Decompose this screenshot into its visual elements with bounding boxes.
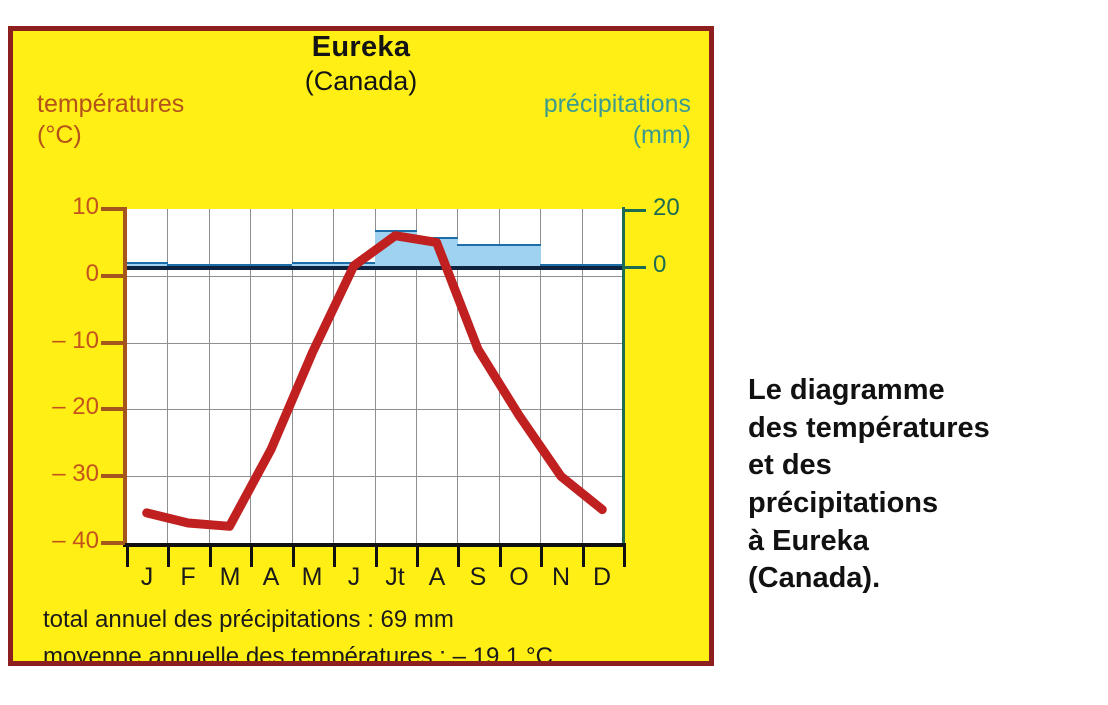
temperature-tick — [101, 207, 125, 211]
precipitation-tick-label: 0 — [653, 251, 666, 279]
temperature-axis-header: températures (°C) — [37, 89, 184, 150]
figure-caption: Le diagramme des températures et des pré… — [748, 372, 1088, 598]
temperature-tick — [101, 274, 125, 278]
climate-diagram-panel: températures (°C) précipitations (mm) Eu… — [8, 26, 714, 666]
temperature-tick — [101, 541, 125, 545]
month-label: D — [577, 563, 627, 592]
annual-mean-temperature: moyenne annuelle des températures : – 19… — [43, 643, 553, 666]
precipitation-tick-label: 20 — [653, 194, 680, 222]
temperature-tick-label: – 40 — [15, 527, 99, 555]
temperature-tick-label: – 10 — [15, 327, 99, 355]
station-title: Eureka — [13, 31, 709, 64]
temperature-tick — [101, 407, 125, 411]
temperature-tick — [101, 341, 125, 345]
temperature-axis-spine — [123, 207, 127, 547]
precipitation-tick — [624, 266, 646, 269]
temperature-tick-label: 10 — [15, 193, 99, 221]
precipitation-axis-header: précipitations (mm) — [544, 89, 691, 150]
chart-title-block: Eureka (Canada) — [13, 31, 709, 97]
temperature-tick — [101, 474, 125, 478]
precipitation-axis-spine — [622, 207, 625, 547]
precipitation-tick — [624, 209, 646, 212]
temperature-tick-label: 0 — [15, 260, 99, 288]
temperature-tick-label: – 20 — [15, 393, 99, 421]
temperature-curve — [126, 209, 623, 543]
annual-precipitation-total: total annuel des précipitations : 69 mm — [43, 606, 454, 634]
temperature-tick-label: – 30 — [15, 460, 99, 488]
